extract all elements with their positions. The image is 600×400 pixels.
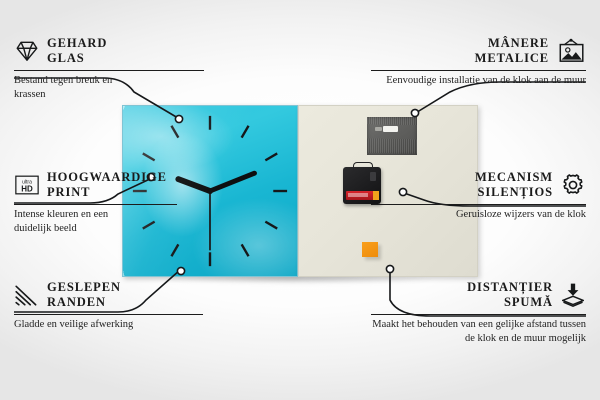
product-infographic: GEHARD GLAS Bestand tegen breuk en krass… — [0, 0, 600, 400]
hanger-slot — [383, 126, 398, 132]
feature-title-line2: METALICE — [475, 51, 549, 65]
feature-title: DISTANȚIER SPUMĂ — [467, 280, 553, 311]
diamond-icon — [14, 38, 40, 64]
feature-title-line2: GLAS — [47, 51, 85, 65]
feature-title-line2: SPUMĂ — [504, 295, 553, 309]
ultra-hd-icon: ultra HD — [14, 172, 40, 198]
feature-description: Gladde en veilige afwerking — [14, 318, 204, 332]
feature-divider — [371, 70, 586, 71]
feature-title: MECANISM SILENȚIOS — [475, 170, 553, 201]
feature-hoogwaardige-print: ultra HD HOOGWAARDIGE PRINT Intense kleu… — [14, 170, 229, 236]
feature-description: Bestand tegen breuk en krassen — [14, 74, 139, 102]
feature-title-line1: GEHARD — [47, 36, 107, 50]
feature-title-line1: MECANISM — [475, 170, 553, 184]
feature-distantier-spuma: DISTANȚIER SPUMĂ Maakt het behouden van … — [371, 280, 586, 346]
feature-title-line1: MÂNERE — [488, 36, 549, 50]
gear-icon — [560, 172, 586, 198]
feature-description: Intense kleuren en een duidelijk beeld — [14, 208, 134, 236]
picture-frame-icon — [556, 38, 586, 64]
feature-title: GEHARD GLAS — [47, 36, 107, 67]
feature-mecanism-silentios: MECANISM SILENȚIOS Geruisloze wijzers va… — [371, 170, 586, 222]
feature-title: HOOGWAARDIGE PRINT — [47, 170, 167, 201]
feature-divider — [371, 314, 586, 315]
feature-divider — [14, 70, 204, 71]
beveled-edge-icon — [14, 282, 40, 308]
feature-description: Eenvoudige installatie van de klok aan d… — [371, 74, 586, 88]
hanger-slot-secondary — [375, 127, 382, 131]
foam-spacer-arrow-icon — [560, 282, 586, 308]
feature-manere-metalice: MÂNERE METALICE Eenvoudige installatie v… — [371, 36, 586, 88]
feature-title-line2: PRINT — [47, 185, 90, 199]
feature-title: GESLEPEN RANDEN — [47, 280, 121, 311]
feature-divider — [14, 314, 203, 315]
metal-hanger-plate — [367, 117, 417, 155]
battery-label — [348, 193, 368, 197]
mechanism-hook — [353, 162, 373, 170]
feature-description: Maakt het behouden van een gelijke afsta… — [371, 318, 586, 346]
feature-title-line2: RANDEN — [47, 295, 106, 309]
feature-description: Geruisloze wijzers van de klok — [371, 208, 586, 222]
feature-divider — [14, 204, 177, 205]
feature-title-line1: HOOGWAARDIGE — [47, 170, 167, 184]
feature-geslepen-randen: GESLEPEN RANDEN Gladde en veilige afwerk… — [14, 280, 229, 332]
feature-title-line1: DISTANȚIER — [467, 280, 553, 294]
svg-text:HD: HD — [21, 185, 33, 194]
feature-divider — [371, 204, 586, 205]
foam-spacer — [362, 242, 378, 257]
feature-title-line1: GESLEPEN — [47, 280, 121, 294]
feature-gehard-glas: GEHARD GLAS Bestand tegen breuk en krass… — [14, 36, 229, 102]
feature-title-line2: SILENȚIOS — [478, 185, 554, 199]
feature-title: MÂNERE METALICE — [475, 36, 549, 67]
